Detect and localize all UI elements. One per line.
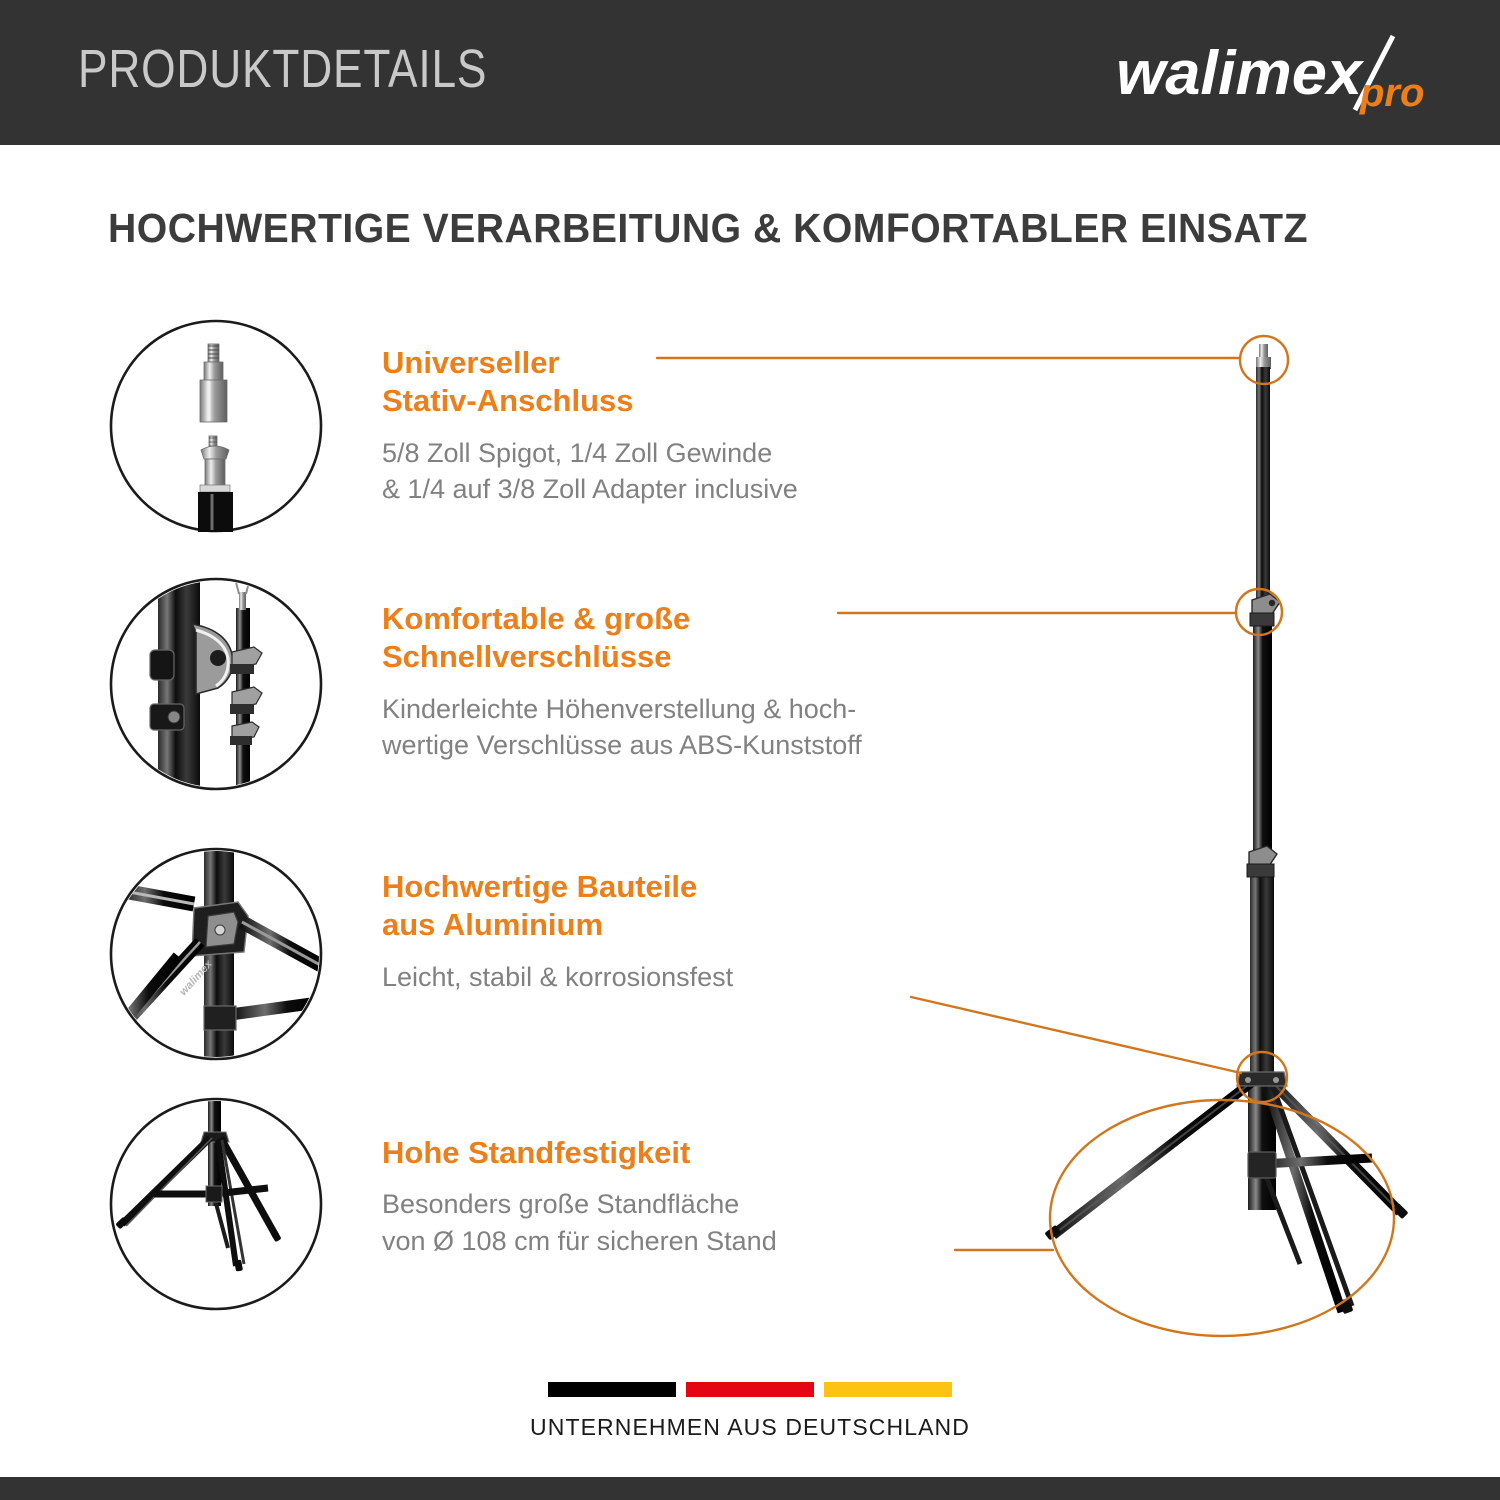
callout-spigot-top-circle [1240, 336, 1288, 384]
callout-leg-hub-circle [1237, 1052, 1287, 1102]
flag-bar-red [686, 1382, 814, 1397]
feature-2-text: Komfortable & große Schnellverschlüsse K… [382, 600, 862, 763]
feature-4-desc: Besonders große Standfläche von Ø 108 cm… [382, 1186, 777, 1258]
feature-1-desc-line1: 5/8 Zoll Spigot, 1/4 Zoll Gewinde [382, 435, 798, 471]
feature-4-desc-line2: von Ø 108 cm für sicheren Stand [382, 1223, 777, 1259]
feature-4-text: Hohe Standfestigkeit Besonders große Sta… [382, 1134, 777, 1259]
quick-lock-clamp-icon [108, 576, 324, 792]
feature-3-title: Hochwertige Bauteile aus Aluminium [382, 868, 733, 945]
stand-tube-section-3 [1250, 870, 1274, 1080]
feature-4-desc-line1: Besonders große Standfläche [382, 1186, 777, 1222]
footer: UNTERNEHMEN AUS DEUTSCHLAND [0, 1382, 1500, 1477]
section-headline: HOCHWERTIGE VERARBEITUNG & KOMFORTABLER … [108, 205, 1308, 252]
leader-line-feature-3 [911, 997, 1241, 1073]
stand-spigot-head [1256, 344, 1271, 369]
feature-2-title-line1: Komfortable & große [382, 600, 862, 638]
logo-artwork: walimex pro [1112, 30, 1442, 116]
stand-tube-section-4 [1248, 1080, 1276, 1210]
stand-tube-section-1 [1256, 367, 1270, 613]
feature-1-title-line1: Universeller [382, 344, 798, 382]
logo-pro-text: pro [1359, 71, 1424, 115]
flag-bar-black [548, 1382, 676, 1397]
callout-base-spread-ellipse [1050, 1100, 1394, 1336]
feature-3-desc-line1: Leicht, stabil & korrosionsfest [382, 959, 733, 995]
feature-4-title: Hohe Standfestigkeit [382, 1134, 777, 1172]
spigot-adapter-icon [108, 318, 324, 534]
feature-2-desc-line1: Kinderleichte Höhenverstellung & hoch- [382, 691, 862, 727]
tripod-legs [1044, 1072, 1408, 1314]
stand-quick-lock-upper [1250, 594, 1280, 626]
feature-3-title-line1: Hochwertige Bauteile [382, 868, 733, 906]
walimex-pro-logo: walimex pro [1112, 30, 1442, 116]
callout-quick-lock-circle [1236, 589, 1282, 635]
footer-bar [0, 1477, 1500, 1500]
tripod-base-icon [108, 1096, 324, 1312]
feature-1-title: Universeller Stativ-Anschluss [382, 344, 798, 421]
stand-quick-lock-mid [1247, 846, 1277, 877]
feature-1-desc-line2: & 1/4 auf 3/8 Zoll Adapter inclusive [382, 471, 798, 507]
aluminium-leg-hub-icon: walimex [108, 846, 324, 1062]
feature-4-title-line1: Hohe Standfestigkeit [382, 1134, 777, 1172]
feature-1-desc: 5/8 Zoll Spigot, 1/4 Zoll Gewinde & 1/4 … [382, 435, 798, 507]
feature-2-desc: Kinderleichte Höhenverstellung & hoch- w… [382, 691, 862, 763]
stand-tube-section-2 [1253, 620, 1272, 863]
feature-2-title-line2: Schnellverschlüsse [382, 638, 862, 676]
logo-walimex-text: walimex [1116, 39, 1364, 108]
feature-3-desc: Leicht, stabil & korrosionsfest [382, 959, 733, 995]
feature-2-title: Komfortable & große Schnellverschlüsse [382, 600, 862, 677]
flag-bar-gold [824, 1382, 952, 1397]
footer-text: UNTERNEHMEN AUS DEUTSCHLAND [530, 1414, 970, 1441]
feature-2-desc-line2: wertige Verschlüsse aus ABS-Kunststoff [382, 727, 862, 763]
feature-1-title-line2: Stativ-Anschluss [382, 382, 798, 420]
feature-3-title-line2: aus Aluminium [382, 906, 733, 944]
feature-3-text: Hochwertige Bauteile aus Aluminium Leich… [382, 868, 733, 995]
feature-1-text: Universeller Stativ-Anschluss 5/8 Zoll S… [382, 344, 798, 507]
page-title: PRODUKTDETAILS [78, 38, 487, 100]
german-flag-bars [548, 1382, 952, 1397]
